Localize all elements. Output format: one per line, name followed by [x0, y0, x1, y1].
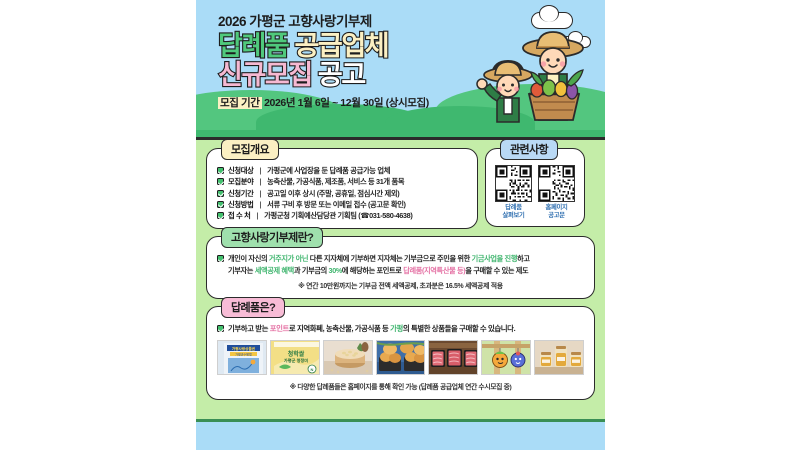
hometown-donation-explain-panel: 고향사랑기부제란? 개인이 자신의 거주지가 아닌 다른 지자체에 기부하면 지…	[206, 236, 595, 299]
gift-thumb-honey	[534, 340, 584, 375]
explain-row: 개인이 자신의 거주지가 아닌 다른 지자체에 기부하면 지자체는 기부금으로 …	[217, 253, 584, 277]
list-item: 모집분야 | 농축산물, 가공식품, 제조품, 서비스 등 31개 품목	[217, 176, 469, 187]
gapyeong-gift-certificate-image: 가평사랑상품권 가평군수발행	[218, 341, 267, 375]
list-item: 접 수 처 | 가평군청 기획예산담당관 기획팀 (☎031-580-4638)	[217, 210, 469, 221]
gift-products-panel: 답례품은? 기부하고 받는 포인트로 지역화폐, 농축산물, 가공식품 등 가평…	[206, 306, 595, 400]
qr-code-group: 답례품 살펴보기	[492, 165, 578, 220]
gift-thumb-bread	[376, 340, 426, 375]
check-icon	[217, 212, 224, 219]
gift-thumb-rice: 청학쌀 가평군 청정미 N	[270, 340, 320, 375]
explain-highlight-gift: 답례품(지역특산물 등)	[403, 266, 465, 275]
item-value: 가평군청 기획예산담당관 기획팀 (☎031-580-4638)	[264, 210, 412, 221]
man-farmer	[523, 32, 583, 120]
item-key: 접 수 처	[228, 210, 250, 221]
gift-description-text: 기부하고 받는 포인트로 지역화폐, 농축산물, 가공식품 등 가평의 특별한 …	[228, 323, 515, 334]
gift-text-part: 로 지역화폐, 농축산물, 가공식품 등	[289, 324, 390, 333]
gift-note: ※ 다양한 답례품들은 홈페이지를 통해 확인 가능 (답례품 공급업체 연간 …	[217, 381, 584, 391]
recruitment-poster: 2026 가평군 고향사랑기부제 답례품 공급업체 신규모집 공고 모집 기간 …	[196, 0, 605, 450]
item-key: 신청대상	[228, 165, 253, 176]
girl-farmer	[477, 60, 532, 122]
gift-highlight-gapyeong: 가평	[390, 324, 403, 333]
panel-badge-gifts: 답례품은?	[221, 297, 285, 318]
explain-text-part: 기부자는	[228, 266, 255, 275]
qr-caption-gifts: 답례품 살펴보기	[495, 204, 532, 220]
explain-highlight-percent: 30%	[329, 266, 342, 275]
poster-kicker: 2026 가평군 고향사랑기부제	[218, 10, 468, 30]
qr-code-gifts[interactable]	[495, 165, 532, 202]
item-separator: |	[254, 210, 260, 221]
baked-bread-image	[377, 341, 426, 375]
svg-text:N: N	[310, 367, 313, 372]
pine-nut-cake-image	[324, 341, 373, 375]
qr-caption-line-1: 답례품	[495, 204, 532, 212]
explain-highlight-fund: 기금사업을 진행	[472, 254, 518, 263]
item-separator: |	[257, 199, 263, 210]
qr-caption-line-2: 살펴보기	[495, 212, 532, 220]
period-label: 모집 기간	[218, 97, 262, 109]
list-item: 신청방법 | 서류 구비 후 방문 또는 이메일 접수 (공고문 확인)	[217, 199, 469, 210]
qr-caption-line-2: 공고문	[538, 212, 575, 220]
check-icon	[217, 201, 224, 208]
title-word-gift: 답례품	[218, 31, 288, 61]
beef-pack-image	[429, 341, 478, 375]
item-separator: |	[257, 176, 263, 187]
explain-highlight-residence: 거주지가 아닌	[269, 254, 308, 263]
gift-description: 기부하고 받는 포인트로 지역화폐, 농축산물, 가공식품 등 가평의 특별한 …	[217, 323, 584, 334]
poster-title-line-1: 답례품 공급업체	[218, 32, 468, 61]
qr-code-homepage[interactable]	[538, 165, 575, 202]
footer-sky-bar	[196, 422, 605, 450]
poster-body: 모집개요 신청대상 | 가평군에 사업장을 둔 답례품 공급가능 업체 모집분야…	[196, 140, 605, 400]
honey-jars-image	[535, 341, 584, 375]
recruitment-outline-panel: 모집개요 신청대상 | 가평군에 사업장을 둔 답례품 공급가능 업체 모집분야…	[206, 148, 478, 229]
period-value: 2026년 1월 6일 ~ 12월 30일 (상시모집)	[264, 97, 429, 109]
gift-thumb-character-keyring	[481, 340, 531, 375]
item-value: 공고일 이후 상시 (주말, 공휴일, 점심시간 제외)	[267, 188, 399, 199]
check-icon	[217, 255, 224, 262]
qr-code-item[interactable]: 홈페이지 공고문	[538, 165, 575, 220]
top-panels-row: 모집개요 신청대상 | 가평군에 사업장을 둔 답례품 공급가능 업체 모집분야…	[206, 148, 595, 236]
title-block: 2026 가평군 고향사랑기부제 답례품 공급업체 신규모집 공고 모집 기간 …	[218, 10, 468, 110]
rice-package-image: 청학쌀 가평군 청정미 N	[271, 341, 320, 375]
check-icon	[217, 190, 224, 197]
qr-caption-line-1: 홈페이지	[538, 204, 575, 212]
outline-item-list: 신청대상 | 가평군에 사업장을 둔 답례품 공급가능 업체 모집분야 | 농축…	[217, 165, 469, 221]
svg-text:가평사랑상품권: 가평사랑상품권	[232, 346, 256, 351]
explain-highlight-taxdeduct: 세액공제 혜택	[255, 266, 294, 275]
explain-text-part: 개인이 자신의	[228, 254, 269, 263]
qr-code-item[interactable]: 답례품 살펴보기	[495, 165, 532, 220]
qr-caption-homepage: 홈페이지 공고문	[538, 204, 575, 220]
item-value: 농축산물, 가공식품, 제조품, 서비스 등 31개 품목	[267, 176, 404, 187]
gift-thumb-pine-nut-cake	[323, 340, 373, 375]
title-word-newrecruit: 신규모집	[218, 60, 312, 90]
explain-text: 개인이 자신의 거주지가 아닌 다른 지자체에 기부하면 지자체는 기부금으로 …	[228, 253, 530, 277]
gift-thumbnail-row: 가평사랑상품권 가평군수발행 청학쌀	[217, 340, 584, 375]
gift-thumb-gift-certificate: 가평사랑상품권 가평군수발행	[217, 340, 267, 375]
explain-text-part: 과 기부금의	[294, 266, 329, 275]
item-separator: |	[257, 165, 263, 176]
related-info-panel: 관련사항	[485, 148, 585, 227]
poster-title-line-2: 신규모집 공고	[218, 61, 468, 90]
item-value: 서류 구비 후 방문 또는 이메일 접수 (공고문 확인)	[267, 199, 405, 210]
farmer-characters-illustration	[471, 18, 601, 130]
gift-highlight-point: 포인트	[270, 324, 289, 333]
check-icon	[217, 325, 224, 332]
explain-text-part: 하고	[517, 254, 530, 263]
gift-text-part: 기부하고 받는	[228, 324, 270, 333]
item-key: 신청기간	[228, 188, 253, 199]
gift-text-part: 의 특별한 상품들을 구매할 수 있습니다.	[403, 324, 515, 333]
check-icon	[217, 167, 224, 174]
item-key: 신청방법	[228, 199, 253, 210]
panel-badge-explain: 고향사랑기부제란?	[221, 227, 323, 248]
explain-text-part: 을 구매할 수 있는 제도	[465, 266, 528, 275]
svg-text:가평군수발행: 가평군수발행	[235, 352, 252, 357]
check-icon	[217, 178, 224, 185]
list-item: 신청대상 | 가평군에 사업장을 둔 답례품 공급가능 업체	[217, 165, 469, 176]
recruitment-period: 모집 기간 2026년 1월 6일 ~ 12월 30일 (상시모집)	[218, 95, 468, 110]
svg-text:청학쌀: 청학쌀	[288, 350, 305, 358]
panel-badge-outline: 모집개요	[221, 139, 279, 160]
item-key: 모집분야	[228, 176, 253, 187]
screenshot-canvas: 2026 가평군 고향사랑기부제 답례품 공급업체 신규모집 공고 모집 기간 …	[0, 0, 800, 450]
gift-thumb-beef	[428, 340, 478, 375]
title-word-supplier: 공급업체	[294, 31, 388, 61]
title-word-notice: 공고	[318, 60, 365, 90]
list-item: 신청기간 | 공고일 이후 상시 (주말, 공휴일, 점심시간 제외)	[217, 188, 469, 199]
explain-text-part: 다른 지자체에 기부하면 지자체는 기부금으로 주민을 위한	[308, 254, 471, 263]
explain-text-part: 에 해당하는 포인트로	[342, 266, 403, 275]
poster-header: 2026 가평군 고향사랑기부제 답례품 공급업체 신규모집 공고 모집 기간 …	[196, 0, 605, 140]
svg-text:가평군 청정미: 가평군 청정미	[284, 357, 308, 364]
item-value: 가평군에 사업장을 둔 답례품 공급가능 업체	[267, 165, 390, 176]
character-keyring-image	[482, 341, 531, 375]
explain-note: ※ 연간 10만원까지는 기부금 전액 세액공제, 초과분은 16.5% 세액공…	[217, 280, 584, 290]
panel-badge-related: 관련사항	[500, 139, 558, 160]
item-separator: |	[257, 188, 263, 199]
